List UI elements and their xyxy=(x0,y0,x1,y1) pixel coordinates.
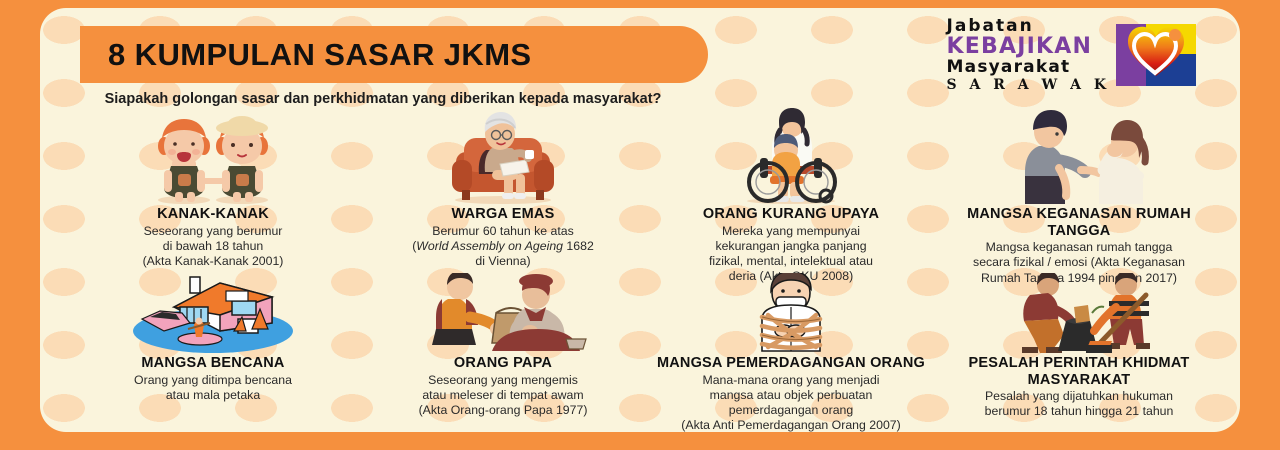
card-title: ORANG KURANG UPAYA xyxy=(646,206,936,223)
card-title: KANAK-KANAK xyxy=(68,206,358,223)
desc-line: Orang yang ditimpa bencana xyxy=(68,373,358,388)
desc-line: Mana-mana orang yang menjadi xyxy=(646,373,936,388)
logo-line-sarawak: S A R A W A K xyxy=(947,78,1110,92)
card-description: Seseorang yang berumur di bawah 18 tahun… xyxy=(68,224,358,270)
card-title: MANGSA BENCANA xyxy=(68,355,358,372)
logo-wordmark: Jabatan KEBAJIKAN Masyarakat S A R A W A… xyxy=(947,18,1110,92)
jkm-sarawak-logo: Jabatan KEBAJIKAN Masyarakat S A R A W A… xyxy=(947,18,1198,92)
desc-line: Berumur 60 tahun ke atas xyxy=(358,224,648,239)
beggar-donation-icon xyxy=(358,273,648,353)
infographic-poster: 8 KUMPULAN SASAR JKMS Siapakah golongan … xyxy=(0,0,1280,450)
desc-line: (Akta Anti Pemerdagangan Orang 2007) xyxy=(646,418,936,432)
card-description: Seseorang yang mengemis atau meleser di … xyxy=(358,373,648,419)
desc-line: di bawah 18 tahun xyxy=(68,239,358,254)
desc-line: atau meleser di tempat awam xyxy=(358,388,648,403)
card-description: Pesalah yang dijatuhkan hukuman berumur … xyxy=(934,389,1224,419)
card-description: Berumur 60 tahun ke atas (World Assembly… xyxy=(358,224,648,270)
card-pesalah-perintah-khidmat-masyarakat: PESALAH PERINTAH KHIDMAT MASYARAKAT Pesa… xyxy=(934,273,1224,420)
card-title: MANGSA PEMERDAGANGAN ORANG xyxy=(646,355,936,372)
desc-line: Pesalah yang dijatuhkan hukuman xyxy=(934,389,1224,404)
card-title: PESALAH PERINTAH KHIDMAT MASYARAKAT xyxy=(934,355,1224,388)
cards-grid: KANAK-KANAK Seseorang yang berumur di ba… xyxy=(50,108,1230,426)
desc-line: (World Assembly on Ageing 1682 xyxy=(358,239,648,254)
card-mangsa-keganasan-rumah-tangga: MANGSA KEGANASAN RUMAH TANGGA Mangsa keg… xyxy=(934,108,1224,286)
card-title: MANGSA KEGANASAN RUMAH TANGGA xyxy=(934,206,1224,239)
flooded-house-icon xyxy=(68,273,358,353)
desc-line: berumur 18 tahun hingga 21 tahun xyxy=(934,404,1224,419)
page-title: 8 KUMPULAN SASAR JKMS xyxy=(108,37,532,73)
card-title: WARGA EMAS xyxy=(358,206,648,223)
logo-line-jabatan: Jabatan xyxy=(947,18,1110,35)
card-orang-kurang-upaya: ORANG KURANG UPAYA Mereka yang mempunyai… xyxy=(646,108,936,284)
bound-person-trafficking-icon xyxy=(646,273,936,353)
desc-line: Mereka yang mempunyai xyxy=(646,224,936,239)
desc-italic: World Assembly on Ageing xyxy=(416,239,563,253)
desc-line: Seseorang yang berumur xyxy=(68,224,358,239)
desc-line: (Akta Orang-orang Papa 1977) xyxy=(358,403,648,418)
content-panel: 8 KUMPULAN SASAR JKMS Siapakah golongan … xyxy=(40,8,1240,432)
desc-line: secara fizikal / emosi (Akta Keganasan xyxy=(934,255,1224,270)
card-description: Orang yang ditimpa bencana atau mala pet… xyxy=(68,373,358,403)
logo-line-masyarakat: Masyarakat xyxy=(947,59,1110,76)
page-subtitle: Siapakah golongan sasar dan perkhidmatan… xyxy=(98,90,668,109)
domestic-violence-icon xyxy=(934,108,1224,204)
elderly-woman-armchair-icon xyxy=(358,108,648,204)
card-kanak-kanak: KANAK-KANAK Seseorang yang berumur di ba… xyxy=(68,108,358,269)
community-service-cleanup-icon xyxy=(934,273,1224,353)
desc-line: di Vienna) xyxy=(358,254,648,269)
desc-line: mangsa atau objek perbuatan xyxy=(646,388,936,403)
desc-line: pemerdagangan orang xyxy=(646,403,936,418)
heart-logo-icon xyxy=(1114,22,1198,88)
card-mangsa-pemerdagangan-orang: MANGSA PEMERDAGANGAN ORANG Mana-mana ora… xyxy=(646,273,936,432)
wheelchair-user-icon xyxy=(646,108,936,204)
desc-line: Seseorang yang mengemis xyxy=(358,373,648,388)
card-orang-papa: ORANG PAPA Seseorang yang mengemis atau … xyxy=(358,273,648,418)
desc-line: atau mala petaka xyxy=(68,388,358,403)
card-description: Mana-mana orang yang menjadi mangsa atau… xyxy=(646,373,936,432)
card-title: ORANG PAPA xyxy=(358,355,648,372)
card-warga-emas: WARGA EMAS Berumur 60 tahun ke atas (Wor… xyxy=(358,108,648,269)
card-mangsa-bencana: MANGSA BENCANA Orang yang ditimpa bencan… xyxy=(68,273,358,403)
logo-line-kebajikan: KEBAJIKAN xyxy=(947,36,1110,58)
desc-line: (Akta Kanak-Kanak 2001) xyxy=(68,254,358,269)
two-children-icon xyxy=(68,108,358,204)
desc-line: fizikal, mental, intelektual atau xyxy=(646,254,936,269)
desc-line: Mangsa keganasan rumah tangga xyxy=(934,240,1224,255)
desc-line: kekurangan jangka panjang xyxy=(646,239,936,254)
title-banner: 8 KUMPULAN SASAR JKMS xyxy=(80,26,708,83)
